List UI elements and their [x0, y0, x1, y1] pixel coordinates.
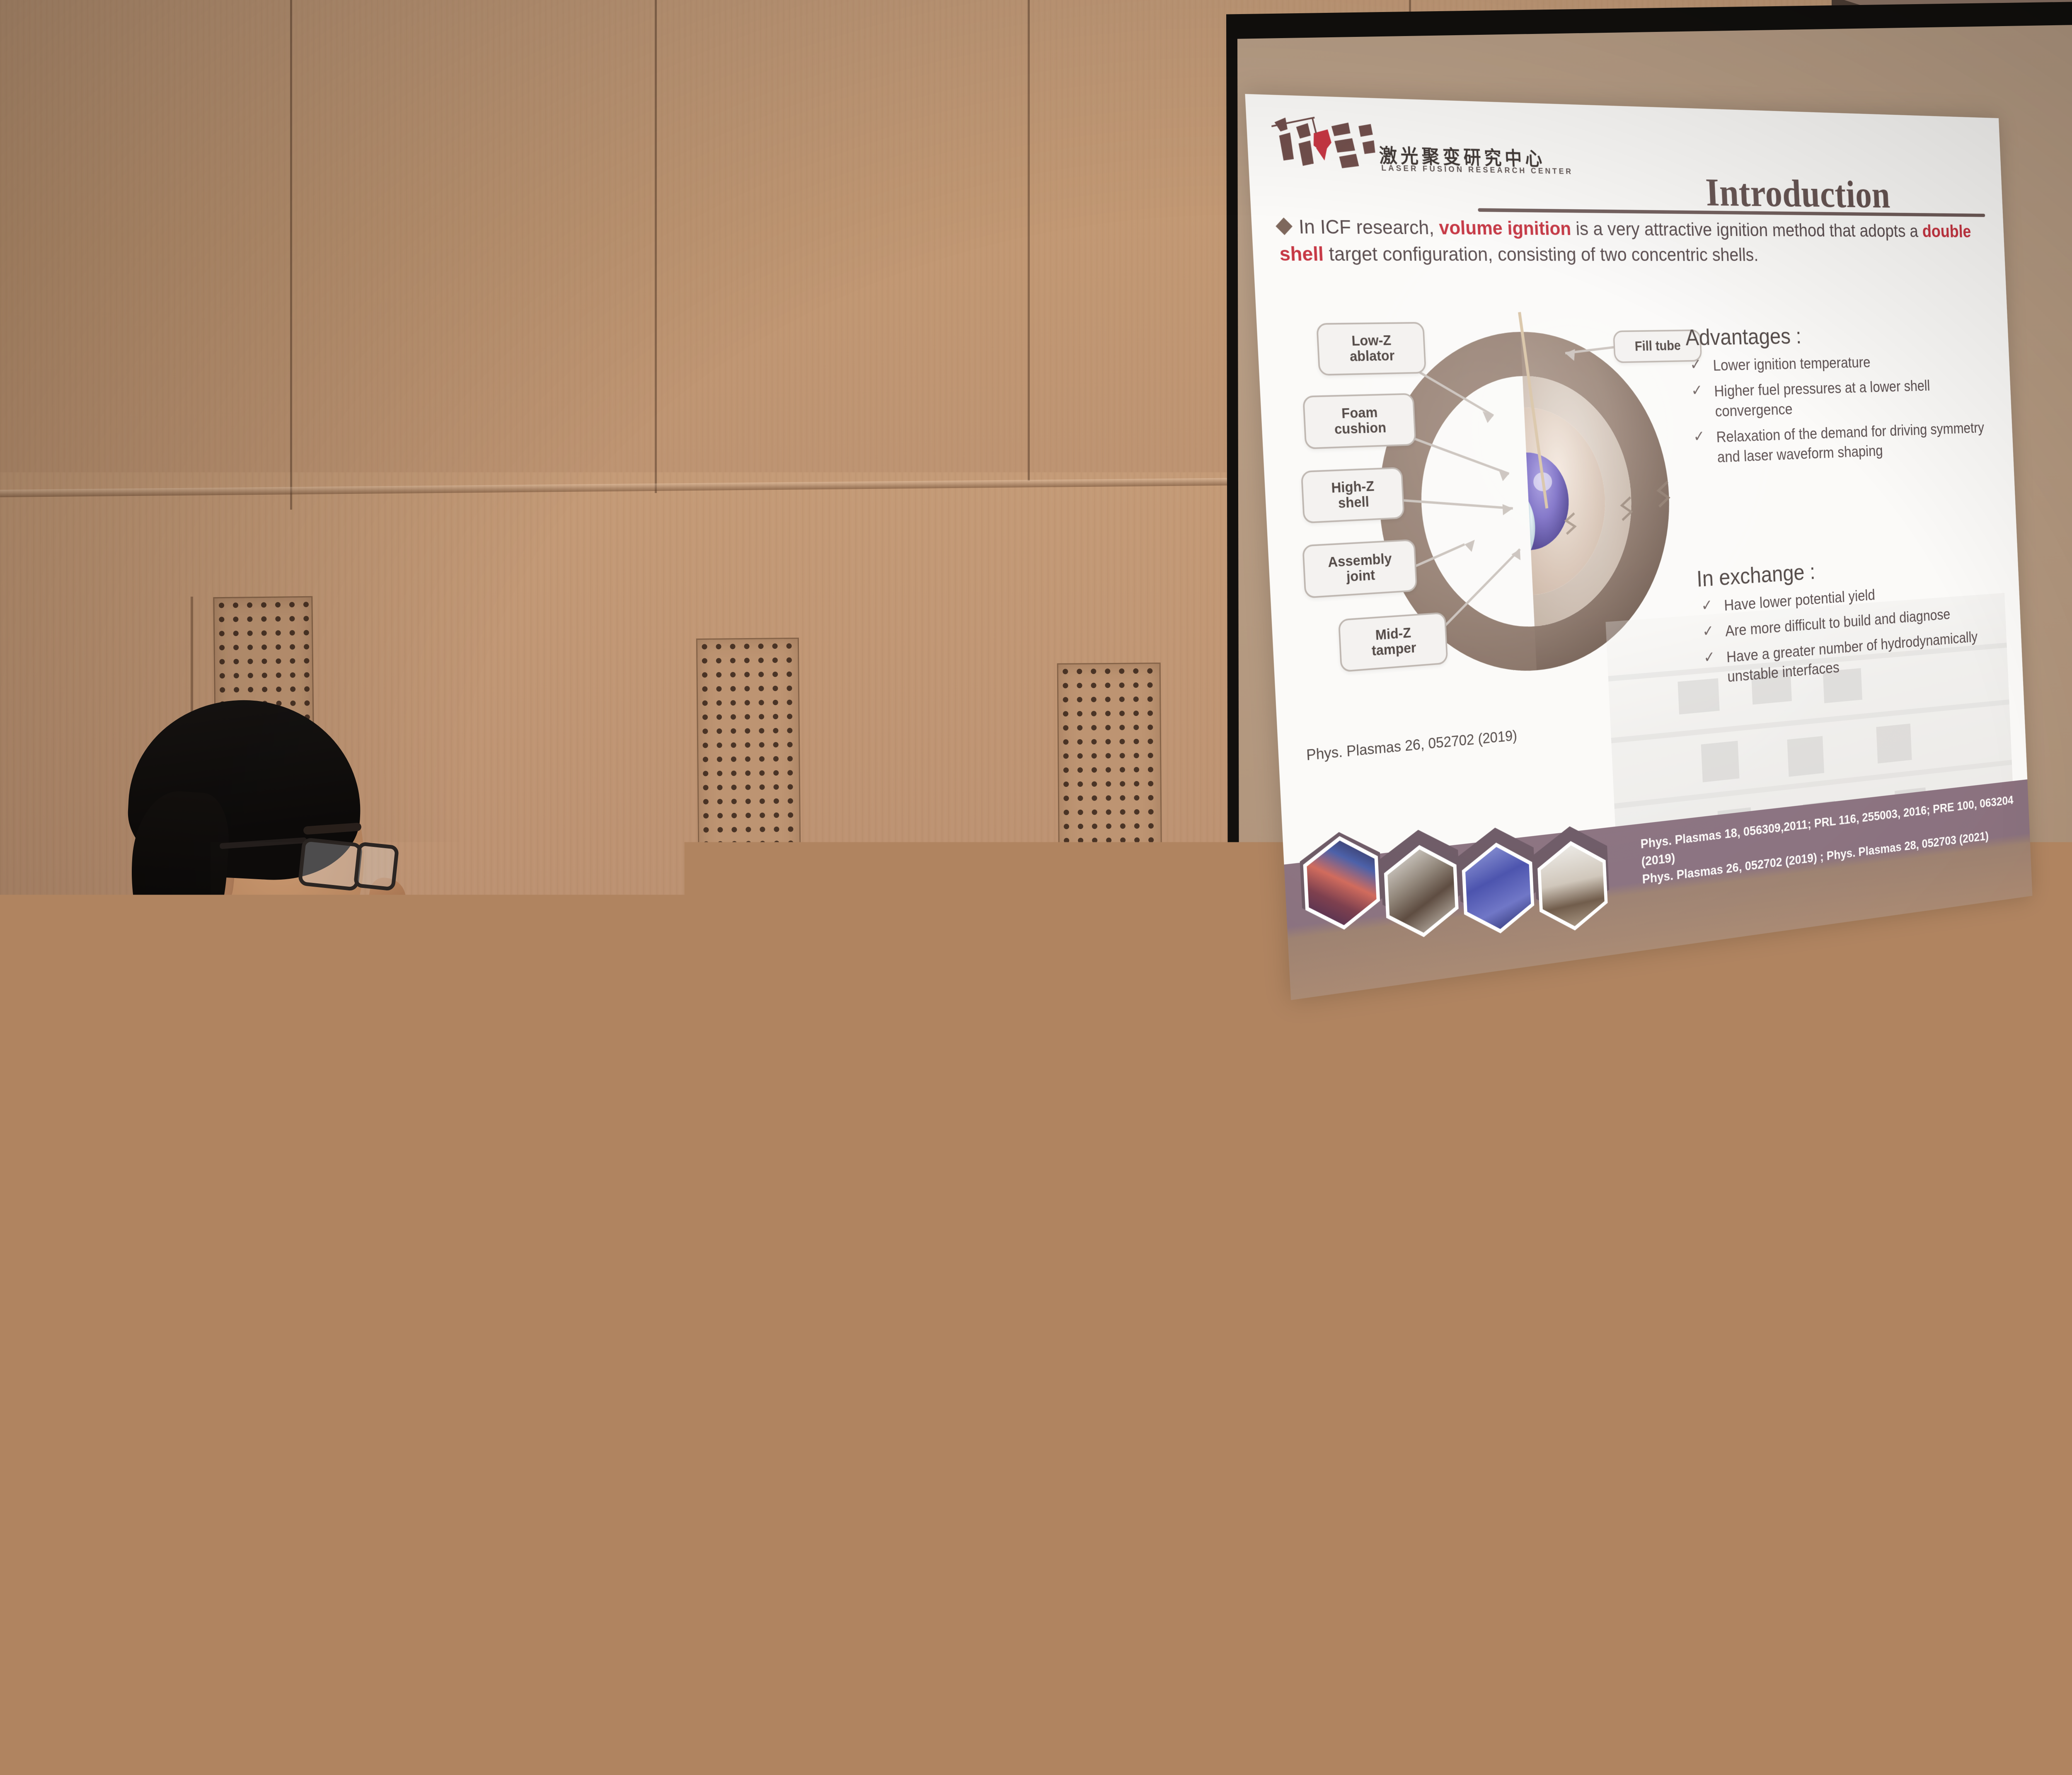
label-line2: joint: [1346, 567, 1375, 585]
label-line2: tamper: [1371, 640, 1416, 659]
label-line1: Fill tube: [1634, 339, 1681, 354]
label-high-z-shell: High-Z shell: [1301, 467, 1405, 524]
building-window: [1701, 741, 1740, 782]
screen-pull-tab[interactable]: [1293, 1098, 1312, 1115]
lfrc-logo: 激光聚变研究中心 LASER FUSION RESEARCH CENTER: [1271, 114, 1511, 200]
wall-seam: [290, 0, 292, 510]
projection-screen: 激光聚变研究中心 LASER FUSION RESEARCH CENTER In…: [1218, 0, 2072, 1193]
lead-part-3: target configuration, consisting of two …: [1323, 243, 1759, 265]
badge-header-subtext-line: [254, 1219, 305, 1231]
eyeglasses-lens-right: [353, 842, 399, 891]
label-line1: High-Z: [1331, 478, 1375, 496]
diagram-citation: Phys. Plasmas 26, 052702 (2019): [1306, 727, 1517, 764]
label-foam-cushion: Foam cushion: [1302, 393, 1416, 450]
bullet-diamond-icon: [1276, 218, 1293, 235]
lead-part-1: In ICF research,: [1298, 216, 1440, 239]
presenter: [25, 696, 489, 1775]
badge-header-band: [243, 1195, 337, 1251]
screen-roller-left: [1219, 1069, 1237, 1119]
lead-paragraph: In ICF research, volume ignition is a ve…: [1278, 213, 1977, 268]
hex-thumbnail-row: [1300, 790, 1631, 927]
acoustic-panel: [1057, 663, 1164, 1177]
advantages-section: Advantages : Lower ignition temperature …: [1685, 320, 2005, 474]
projected-slide: 激光聚变研究中心 LASER FUSION RESEARCH CENTER In…: [1245, 94, 2032, 1000]
label-assembly-joint: Assembly joint: [1302, 539, 1417, 599]
label-low-z-ablator: Low-Z ablator: [1316, 322, 1426, 376]
lead-highlight-1: volume ignition: [1438, 217, 1571, 239]
advantages-heading: Advantages :: [1685, 320, 2000, 351]
advantages-item: Higher fuel pressures at a lower shell c…: [1687, 375, 2002, 422]
conference-room-photo: 激光聚变研究中心 LASER FUSION RESEARCH CENTER In…: [0, 0, 2072, 1775]
slide-title: Introduction: [1704, 169, 1991, 218]
badge-header-text-line: [254, 1204, 316, 1219]
label-line2: cushion: [1334, 420, 1387, 437]
label-line1: Assembly: [1327, 551, 1392, 570]
eyeglasses-lens-left: [298, 837, 363, 892]
advantages-item: Relaxation of the demand for driving sym…: [1690, 418, 2004, 468]
building-window: [1787, 736, 1824, 776]
wall-seam: [655, 0, 657, 493]
lead-part-2: is a very attractive ignition method tha…: [1571, 218, 1923, 241]
advantages-list: Lower ignition temperature Higher fuel p…: [1686, 350, 2004, 468]
badge-name-text: [258, 1303, 303, 1320]
label-line2: ablator: [1349, 348, 1395, 364]
label-line1: Foam: [1341, 404, 1378, 421]
advantages-item: Lower ignition temperature: [1686, 350, 2001, 376]
lfrc-logo-mark: [1271, 114, 1377, 178]
label-line1: Low-Z: [1351, 332, 1392, 349]
label-mid-z-tamper: Mid-Z tamper: [1338, 612, 1448, 672]
badge-affiliation-line-1: [246, 1331, 309, 1345]
building-window: [1876, 723, 1912, 763]
label-line2: shell: [1338, 494, 1369, 511]
wall-seam: [1028, 0, 1030, 481]
